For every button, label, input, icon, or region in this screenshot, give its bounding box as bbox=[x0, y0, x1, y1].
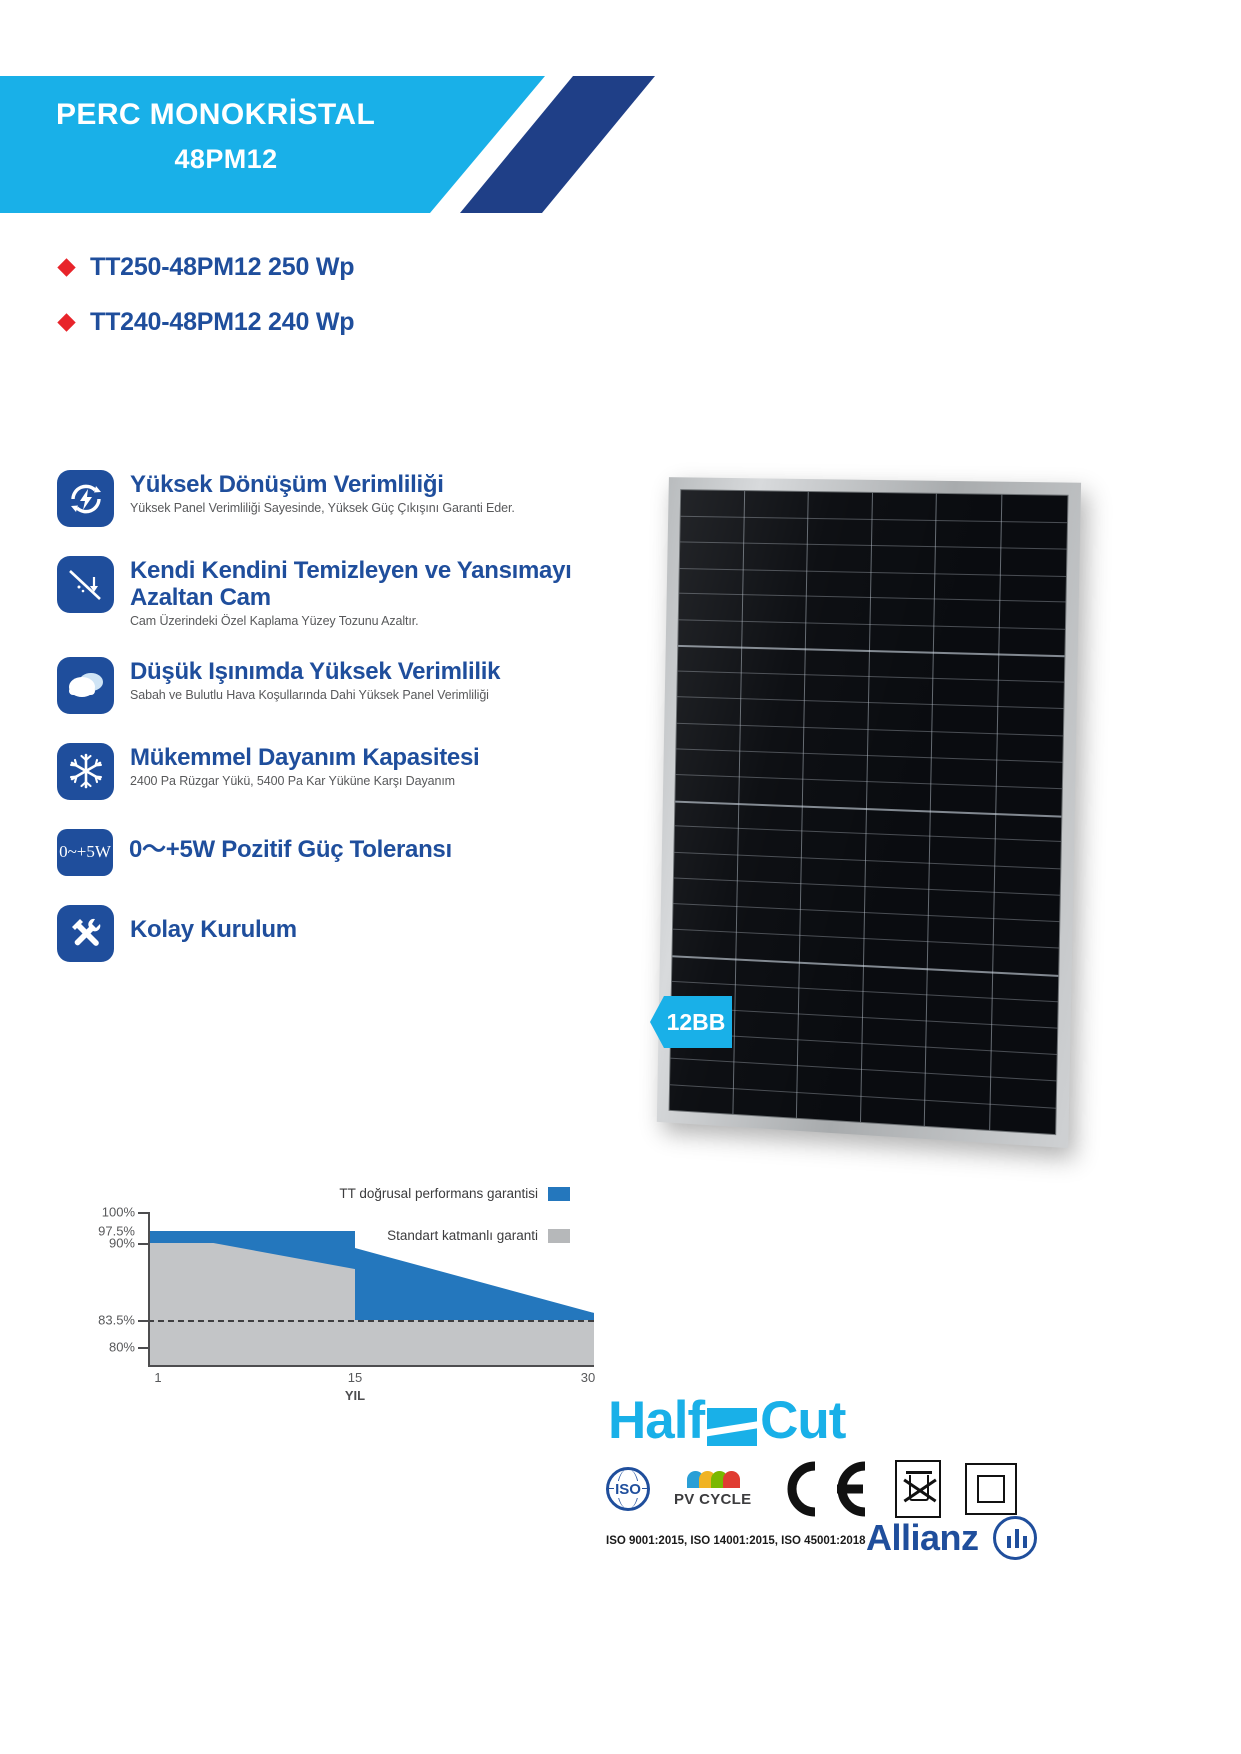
pv-cycle-icon: PV CYCLE bbox=[674, 1471, 751, 1508]
halfcut-divider-icon bbox=[707, 1408, 757, 1446]
header-model: 48PM12 bbox=[56, 144, 396, 175]
feature-subtitle: Yüksek Panel Verimliliği Sayesinde, Yüks… bbox=[130, 501, 515, 515]
model-label: TT250-48PM12 250 Wp bbox=[90, 253, 354, 282]
list-item: Düşük Işınımda Yüksek Verimlilik Sabah v… bbox=[57, 657, 597, 714]
power-tolerance-icon: 0~+5W bbox=[57, 829, 113, 876]
solar-panel-image: 12BB bbox=[650, 480, 1100, 1160]
allianz-label: Allianz bbox=[866, 1517, 979, 1559]
allianz-logo: Allianz bbox=[866, 1516, 1037, 1560]
legend-label: TT doğrusal performans garantisi bbox=[339, 1186, 538, 1201]
list-item: TT240-48PM12 240 Wp bbox=[60, 308, 354, 337]
feature-body: Kendi Kendini Temizleyen ve Yansımayı Az… bbox=[130, 556, 597, 628]
list-item: Mükemmel Dayanım Kapasitesi 2400 Pa Rüzg… bbox=[57, 743, 597, 800]
iso-label: ISO bbox=[614, 1481, 642, 1498]
class-ii-icon bbox=[965, 1463, 1017, 1515]
iso-globe-icon: ISO bbox=[606, 1467, 650, 1511]
list-item: TT250-48PM12 250 Wp bbox=[60, 253, 354, 282]
header-banner: PERC MONOKRİSTAL 48PM12 bbox=[0, 76, 650, 213]
snowflake-icon bbox=[57, 743, 114, 800]
legend-item: TT doğrusal performans garantisi bbox=[250, 1186, 570, 1201]
y-tick-label: 100% bbox=[102, 1205, 135, 1220]
feature-subtitle: 2400 Pa Rüzgar Yükü, 5400 Pa Kar Yüküne … bbox=[130, 774, 479, 788]
y-tick-label: 90% bbox=[109, 1236, 135, 1251]
legend-label: Standart katmanlı garanti bbox=[387, 1228, 538, 1243]
model-label: TT240-48PM12 240 Wp bbox=[90, 308, 354, 337]
feature-body: Mükemmel Dayanım Kapasitesi 2400 Pa Rüzg… bbox=[130, 743, 479, 800]
legend-swatch-standard bbox=[548, 1229, 570, 1243]
feature-title: Mükemmel Dayanım Kapasitesi bbox=[130, 745, 479, 772]
feature-body: Yüksek Dönüşüm Verimliliği Yüksek Panel … bbox=[130, 470, 515, 527]
self-cleaning-glass-icon bbox=[57, 556, 114, 613]
list-item: 0~+5W 0～+5W Pozitif Güç Toleransı bbox=[57, 829, 597, 876]
ce-mark-icon bbox=[775, 1460, 871, 1518]
chart-legend: TT doğrusal performans garantisi Standar… bbox=[250, 1186, 570, 1270]
efficiency-bolt-icon bbox=[57, 470, 114, 527]
x-tick-label: 15 bbox=[348, 1370, 362, 1385]
diamond-bullet-icon bbox=[57, 313, 75, 331]
feature-title: Kendi Kendini Temizleyen ve Yansımayı Az… bbox=[130, 558, 597, 612]
warranty-chart: 100% 97.5% 90% 83.5% 80% 1 15 30 YIL TT … bbox=[60, 1186, 570, 1416]
tools-icon bbox=[57, 905, 114, 962]
power-tolerance-label: 0~+5W bbox=[59, 842, 111, 862]
feature-title: Yüksek Dönüşüm Verimliliği bbox=[130, 472, 515, 499]
feature-body: Düşük Işınımda Yüksek Verimlilik Sabah v… bbox=[130, 657, 500, 714]
halfcut-word-half: Half bbox=[608, 1390, 704, 1451]
page-title: PERC MONOKRİSTAL bbox=[56, 98, 375, 132]
status-badge: 12BB bbox=[650, 996, 732, 1048]
halfcut-word-cut: Cut bbox=[760, 1390, 845, 1451]
feature-body: Kolay Kurulum bbox=[130, 905, 297, 962]
reference-line-83-5 bbox=[148, 1320, 594, 1322]
model-list: TT250-48PM12 250 Wp TT240-48PM12 240 Wp bbox=[60, 253, 354, 363]
pv-cycle-label: PV CYCLE bbox=[674, 1491, 751, 1508]
x-axis-title: YIL bbox=[345, 1388, 365, 1403]
feature-subtitle: Cam Üzerindeki Özel Kaplama Yüzey Tozunu… bbox=[130, 614, 597, 628]
x-axis bbox=[148, 1365, 594, 1367]
halfcut-logo: Half Cut bbox=[608, 1390, 845, 1451]
x-tick-label: 30 bbox=[581, 1370, 595, 1385]
x-tick-label: 1 bbox=[154, 1370, 161, 1385]
y-tick-label: 80% bbox=[109, 1340, 135, 1355]
iso-standards-text: ISO 9001:2015, ISO 14001:2015, ISO 45001… bbox=[606, 1535, 866, 1547]
legend-item: Standart katmanlı garanti bbox=[250, 1228, 570, 1243]
y-tick-label: 83.5% bbox=[98, 1313, 135, 1328]
feature-subtitle: Sabah ve Bulutlu Hava Koşullarında Dahi … bbox=[130, 688, 500, 702]
list-item: Kolay Kurulum bbox=[57, 905, 597, 962]
feature-title: 0～+5W Pozitif Güç Toleransı bbox=[129, 837, 452, 864]
cloud-icon bbox=[57, 657, 114, 714]
feature-title: Kolay Kurulum bbox=[130, 917, 297, 944]
allianz-mark-icon bbox=[993, 1516, 1037, 1560]
diamond-bullet-icon bbox=[57, 258, 75, 276]
y-axis bbox=[148, 1212, 150, 1367]
certification-logos: ISO PV CYCLE bbox=[606, 1460, 1017, 1518]
feature-title: Düşük Işınımda Yüksek Verimlilik bbox=[130, 659, 500, 686]
list-item: Kendi Kendini Temizleyen ve Yansımayı Az… bbox=[57, 556, 597, 628]
feature-list: Yüksek Dönüşüm Verimliliği Yüksek Panel … bbox=[57, 470, 597, 991]
list-item: Yüksek Dönüşüm Verimliliği Yüksek Panel … bbox=[57, 470, 597, 527]
weee-bin-icon bbox=[895, 1460, 941, 1518]
legend-swatch-linear bbox=[548, 1187, 570, 1201]
feature-body: 0～+5W Pozitif Güç Toleransı bbox=[129, 829, 452, 876]
